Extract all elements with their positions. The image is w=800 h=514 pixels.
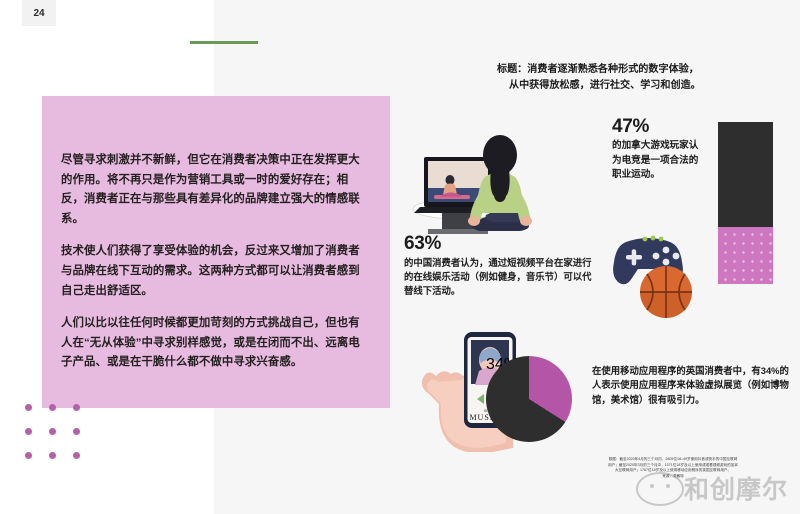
left-text-panel: 尽管寻求刺激并不新鲜，但它在消费者决策中正在发挥更大的作用。将不再只是作为营销工… <box>42 96 390 408</box>
page-number-badge: 24 <box>22 0 56 26</box>
green-divider-rule <box>190 41 258 44</box>
paragraph-2: 技术使人们获得了享受体验的机会，反过来又增加了消费者与品牌在线下互动的需求。这两… <box>61 242 361 301</box>
stat-block-63: 63% 的中国消费者认为，通过短视频平台在家进行的在线娱乐活动（例如健身，音乐节… <box>404 233 600 298</box>
bar-remainder-segment <box>718 122 773 227</box>
stat-block-47: 47% 的加拿大游戏玩家认为电竞是一项合法的职业运动。 <box>612 116 704 183</box>
page-title: 标题：消费者逐渐熟悉各种形式的数字体验， 从中获得放松感，进行社交、学习和创造。 <box>497 62 797 95</box>
paragraph-1: 尽管寻求刺激并不新鲜，但它在消费者决策中正在发挥更大的作用。将不再只是作为营销工… <box>61 151 361 229</box>
stat-34-description: 在使用移动应用程序的英国消费者中，有34%的人表示使用应用程序来体验虚拟展览（例… <box>592 364 792 407</box>
headline-line-2: 从中获得放松感，进行社交、学习和创造。 <box>497 78 797 94</box>
basketball-icon <box>640 266 692 318</box>
footnote-line-4: 来源：英敏特 <box>548 474 798 480</box>
stat-47-description: 的加拿大游戏玩家认为电竞是一项合法的职业运动。 <box>612 139 704 183</box>
stat-47-value: 47% <box>612 116 704 138</box>
headline-line-1: 标题：消费者逐渐熟悉各种形式的数字体验， <box>497 64 699 75</box>
virtual-exhibit-donut-chart: 34% <box>486 356 572 442</box>
stat-63-value: 63% <box>404 233 600 255</box>
panel-body-text: 尽管寻求刺激并不新鲜，但它在消费者决策中正在发挥更大的作用。将不再只是作为营销工… <box>61 151 361 386</box>
decorative-dot-grid <box>25 404 83 464</box>
source-footnote: 数据：截至2020年4月的三个月内，2805位18–49岁使用抖音或快手的中国互… <box>548 457 798 479</box>
gaming-illustration <box>598 228 728 320</box>
donut-ring <box>486 356 572 442</box>
stat-63-description: 的中国消费者认为，通过短视频平台在家进行的在线娱乐活动（例如健身，音乐节）可以代… <box>404 256 600 298</box>
report-page: 24 尽管寻求刺激并不新鲜，但它在消费者决策中正在发挥更大的作用。将不再只是作为… <box>0 0 800 514</box>
stat-block-34: 在使用移动应用程序的英国消费者中，有34%的人表示使用应用程序来体验虚拟展览（例… <box>592 364 792 407</box>
yoga-laptop-illustration <box>398 133 603 243</box>
paragraph-3: 人们以比以往任何时候都更加苛刻的方式挑战自己，但也有人在“无从体验”中寻求别样感… <box>61 314 361 373</box>
